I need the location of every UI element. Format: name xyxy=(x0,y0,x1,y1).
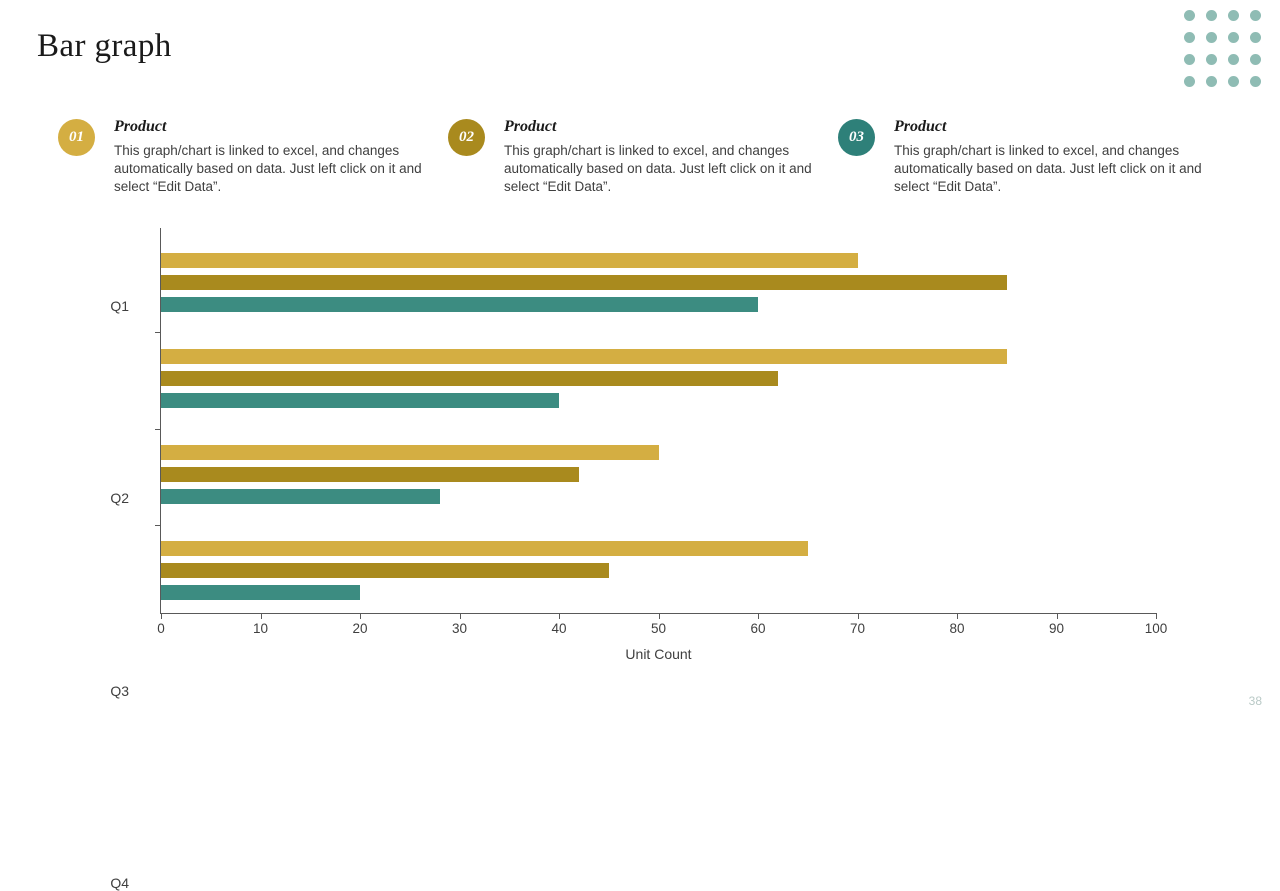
feature-text-block: ProductThis graph/chart is linked to exc… xyxy=(504,118,814,196)
bar-row xyxy=(161,297,1156,312)
bar-q3-series-2[interactable] xyxy=(161,467,579,482)
y-axis-tick xyxy=(155,332,161,333)
feature-item-01: 01ProductThis graph/chart is linked to e… xyxy=(58,118,448,196)
feature-title: Product xyxy=(894,118,1204,136)
decorative-dot xyxy=(1184,10,1195,21)
y-axis-label-q2: Q2 xyxy=(69,490,129,506)
feature-item-02: 02ProductThis graph/chart is linked to e… xyxy=(448,118,838,196)
bar-q4-series-2[interactable] xyxy=(161,563,609,578)
feature-description: This graph/chart is linked to excel, and… xyxy=(114,142,424,196)
x-axis-tick-label: 10 xyxy=(253,621,268,636)
decorative-dot xyxy=(1206,76,1217,87)
x-axis-tick-label: 70 xyxy=(850,621,865,636)
x-axis-tick-label: 0 xyxy=(157,621,165,636)
bar-chart: Q1Q2Q3Q4 Unit Count 01020304050607080901… xyxy=(0,222,1280,682)
decorative-dot xyxy=(1184,76,1195,87)
chart-plot-area: Q1Q2Q3Q4 xyxy=(161,228,1156,613)
feature-title: Product xyxy=(114,118,424,136)
feature-badge-01: 01 xyxy=(58,119,95,156)
x-axis-tick-label: 90 xyxy=(1049,621,1064,636)
bar-q1-series-2[interactable] xyxy=(161,275,1007,290)
decorative-dot xyxy=(1228,10,1239,21)
x-axis-tick-label: 30 xyxy=(452,621,467,636)
feature-text-block: ProductThis graph/chart is linked to exc… xyxy=(114,118,424,196)
decorative-dot xyxy=(1228,76,1239,87)
bar-q2-series-2[interactable] xyxy=(161,371,778,386)
bar-q2-series-3[interactable] xyxy=(161,393,559,408)
bar-row xyxy=(161,371,1156,386)
x-axis-tick xyxy=(1057,613,1058,619)
x-axis-tick-label: 100 xyxy=(1145,621,1168,636)
bar-row xyxy=(161,585,1156,600)
feature-list: 01ProductThis graph/chart is linked to e… xyxy=(58,118,1228,196)
bar-q4-series-1[interactable] xyxy=(161,541,808,556)
bar-q1-series-1[interactable] xyxy=(161,253,858,268)
decorative-dot xyxy=(1250,10,1261,21)
bar-row xyxy=(161,349,1156,364)
bar-q2-series-1[interactable] xyxy=(161,349,1007,364)
bar-q4-series-3[interactable] xyxy=(161,585,360,600)
x-axis-tick-label: 20 xyxy=(352,621,367,636)
feature-description: This graph/chart is linked to excel, and… xyxy=(504,142,814,196)
x-axis-title: Unit Count xyxy=(161,646,1156,662)
bar-group-q4: Q4 xyxy=(161,541,1156,600)
feature-title: Product xyxy=(504,118,814,136)
y-axis-tick xyxy=(155,525,161,526)
x-axis-tick xyxy=(659,613,660,619)
y-axis-label-q4: Q4 xyxy=(69,875,129,891)
bar-row xyxy=(161,393,1156,408)
decorative-dot xyxy=(1250,76,1261,87)
decorative-dot xyxy=(1184,54,1195,65)
x-axis-tick xyxy=(858,613,859,619)
x-axis-tick xyxy=(261,613,262,619)
feature-badge-03: 03 xyxy=(838,119,875,156)
bar-row xyxy=(161,445,1156,460)
decorative-dot xyxy=(1184,32,1195,43)
bar-row xyxy=(161,489,1156,504)
feature-description: This graph/chart is linked to excel, and… xyxy=(894,142,1204,196)
decorative-dot xyxy=(1228,54,1239,65)
x-axis-tick xyxy=(1156,613,1157,619)
decorative-dot xyxy=(1250,32,1261,43)
bar-group-q1: Q1 xyxy=(161,253,1156,312)
decorative-dot-grid xyxy=(1178,4,1266,92)
y-axis-label-q1: Q1 xyxy=(69,298,129,314)
x-axis-tick-label: 60 xyxy=(750,621,765,636)
x-axis-tick xyxy=(360,613,361,619)
feature-item-03: 03ProductThis graph/chart is linked to e… xyxy=(838,118,1228,196)
decorative-dot xyxy=(1228,32,1239,43)
x-axis-tick xyxy=(460,613,461,619)
x-axis-tick xyxy=(758,613,759,619)
bar-row xyxy=(161,275,1156,290)
feature-text-block: ProductThis graph/chart is linked to exc… xyxy=(894,118,1204,196)
bar-row xyxy=(161,467,1156,482)
decorative-dot xyxy=(1250,54,1261,65)
x-axis-tick-label: 40 xyxy=(551,621,566,636)
bar-row xyxy=(161,541,1156,556)
page-number: 38 xyxy=(1249,694,1262,708)
decorative-dot xyxy=(1206,10,1217,21)
bar-q3-series-3[interactable] xyxy=(161,489,440,504)
bar-row xyxy=(161,253,1156,268)
decorative-dot xyxy=(1206,32,1217,43)
feature-badge-02: 02 xyxy=(448,119,485,156)
bar-q1-series-3[interactable] xyxy=(161,297,758,312)
x-axis-tick xyxy=(559,613,560,619)
bar-row xyxy=(161,563,1156,578)
y-axis-tick xyxy=(155,429,161,430)
x-axis-tick-label: 80 xyxy=(949,621,964,636)
bar-group-q3: Q3 xyxy=(161,445,1156,504)
page-title: Bar graph xyxy=(37,28,172,65)
bar-q3-series-1[interactable] xyxy=(161,445,659,460)
x-axis-tick xyxy=(161,613,162,619)
decorative-dot xyxy=(1206,54,1217,65)
x-axis-tick-label: 50 xyxy=(651,621,666,636)
bar-group-q2: Q2 xyxy=(161,349,1156,408)
x-axis-tick xyxy=(957,613,958,619)
y-axis-label-q3: Q3 xyxy=(69,683,129,699)
